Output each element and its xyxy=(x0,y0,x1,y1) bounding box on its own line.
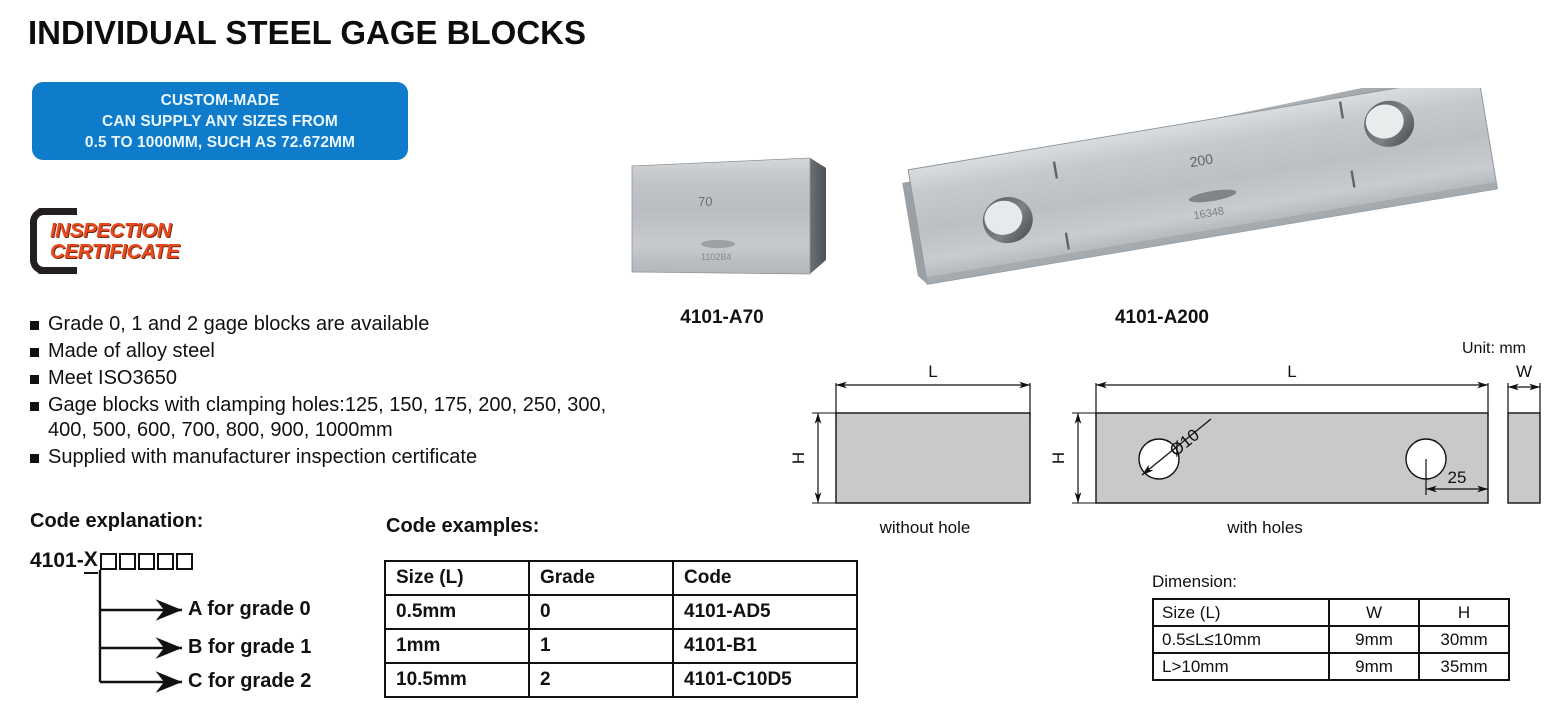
certificate-logo-text: INSPECTION CERTIFICATE xyxy=(50,220,179,262)
table-header-row: Size (L) W H xyxy=(1153,599,1509,626)
code-examples-title: Code examples: xyxy=(386,515,539,538)
code-explanation-title: Code explanation: xyxy=(30,510,203,533)
cell-h: 35mm xyxy=(1419,653,1509,680)
column-header-w: W xyxy=(1329,599,1419,626)
hole-edge-distance-label: 25 xyxy=(1448,468,1467,487)
cell-code: 4101-AD5 xyxy=(673,595,857,629)
product-caption-4101-a200: 4101-A200 xyxy=(1062,307,1262,329)
cell-code: 4101-C10D5 xyxy=(673,663,857,697)
cell-grade: 2 xyxy=(529,663,673,697)
cell-grade: 1 xyxy=(529,629,673,663)
height-label-with-holes: H xyxy=(1049,452,1068,464)
width-label: W xyxy=(1516,362,1532,381)
caption-with-holes: with holes xyxy=(1160,518,1370,538)
certificate-line-2: CERTIFICATE xyxy=(50,241,179,262)
length-label-without-hole: L xyxy=(928,362,937,381)
cell-size: 1mm xyxy=(385,629,529,663)
certificate-line-1: INSPECTION xyxy=(50,220,179,241)
cell-size: 10.5mm xyxy=(385,663,529,697)
badge-line-2: CAN SUPPLY ANY SIZES FROM xyxy=(102,111,338,132)
square-bullet-icon xyxy=(30,454,39,463)
cell-size: 0.5≤L≤10mm xyxy=(1153,626,1329,653)
list-item: Gage blocks with clamping holes:125, 150… xyxy=(30,393,650,443)
column-header-size: Size (L) xyxy=(385,561,529,595)
feature-text: Supplied with manufacturer inspection ce… xyxy=(48,445,477,470)
feature-text: Grade 0, 1 and 2 gage blocks are availab… xyxy=(48,312,429,337)
list-item: Supplied with manufacturer inspection ce… xyxy=(30,445,650,470)
product-caption-4101-a70: 4101-A70 xyxy=(622,307,822,329)
engineering-drawings: L H L H Ø10 25 W xyxy=(790,355,1554,540)
inspection-certificate-logo: INSPECTION CERTIFICATE xyxy=(28,206,248,278)
table-header-row: Size (L) Grade Code xyxy=(385,561,857,595)
cell-w: 9mm xyxy=(1329,626,1419,653)
product-photo-4101-a200: 200 16348 xyxy=(890,88,1510,298)
badge-line-1: CUSTOM-MADE xyxy=(161,90,280,111)
badge-line-3: 0.5 TO 1000MM, SUCH AS 72.672MM xyxy=(85,132,355,153)
cell-code: 4101-B1 xyxy=(673,629,857,663)
square-bullet-icon xyxy=(30,321,39,330)
table-row: 10.5mm 2 4101-C10D5 xyxy=(385,663,857,697)
caption-without-hole: without hole xyxy=(820,518,1030,538)
table-row: 0.5≤L≤10mm 9mm 30mm xyxy=(1153,626,1509,653)
code-examples-table: Size (L) Grade Code 0.5mm 0 4101-AD5 1mm… xyxy=(384,560,858,698)
table-row: 0.5mm 0 4101-AD5 xyxy=(385,595,857,629)
custom-made-badge: CUSTOM-MADE CAN SUPPLY ANY SIZES FROM 0.… xyxy=(32,82,408,160)
dimension-title: Dimension: xyxy=(1152,572,1237,592)
code-box xyxy=(138,553,155,570)
code-box xyxy=(157,553,174,570)
length-label-with-holes: L xyxy=(1287,362,1296,381)
drawing-side-view: W xyxy=(1508,362,1540,503)
list-item: Grade 0, 1 and 2 gage blocks are availab… xyxy=(30,312,650,337)
grade-legend-b: B for grade 1 xyxy=(188,636,311,659)
feature-text: Made of alloy steel xyxy=(48,339,215,364)
code-box xyxy=(100,553,117,570)
table-row: 1mm 1 4101-B1 xyxy=(385,629,857,663)
page-title: INDIVIDUAL STEEL GAGE BLOCKS xyxy=(28,14,586,52)
column-header-code: Code xyxy=(673,561,857,595)
cell-grade: 0 xyxy=(529,595,673,629)
feature-text: Meet ISO3650 xyxy=(48,366,177,391)
grade-legend-c: C for grade 2 xyxy=(188,670,311,693)
code-box xyxy=(176,553,193,570)
cell-size: L>10mm xyxy=(1153,653,1329,680)
feature-list: Grade 0, 1 and 2 gage blocks are availab… xyxy=(30,312,650,472)
table-row: L>10mm 9mm 35mm xyxy=(1153,653,1509,680)
square-bullet-icon xyxy=(30,375,39,384)
column-header-size: Size (L) xyxy=(1153,599,1329,626)
product-photo-4101-a70: 70 1102B4 xyxy=(630,148,830,288)
list-item: Made of alloy steel xyxy=(30,339,650,364)
height-label-without-hole: H xyxy=(790,452,808,464)
code-legend: A for grade 0 B for grade 1 C for grade … xyxy=(30,570,370,700)
cell-w: 9mm xyxy=(1329,653,1419,680)
engraved-size-label: 70 xyxy=(698,194,712,209)
grade-legend-a: A for grade 0 xyxy=(188,598,311,621)
cell-h: 30mm xyxy=(1419,626,1509,653)
column-header-h: H xyxy=(1419,599,1509,626)
cell-size: 0.5mm xyxy=(385,595,529,629)
feature-text: Gage blocks with clamping holes:125, 150… xyxy=(48,393,650,443)
square-bullet-icon xyxy=(30,402,39,411)
dimension-table: Size (L) W H 0.5≤L≤10mm 9mm 30mm L>10mm … xyxy=(1152,598,1510,681)
list-item: Meet ISO3650 xyxy=(30,366,650,391)
drawing-with-holes: L H Ø10 25 xyxy=(1049,362,1488,503)
engraved-serial-label: 1102B4 xyxy=(701,252,731,262)
column-header-grade: Grade xyxy=(529,561,673,595)
square-bullet-icon xyxy=(30,348,39,357)
drawing-without-hole: L H xyxy=(790,362,1030,503)
code-box xyxy=(119,553,136,570)
